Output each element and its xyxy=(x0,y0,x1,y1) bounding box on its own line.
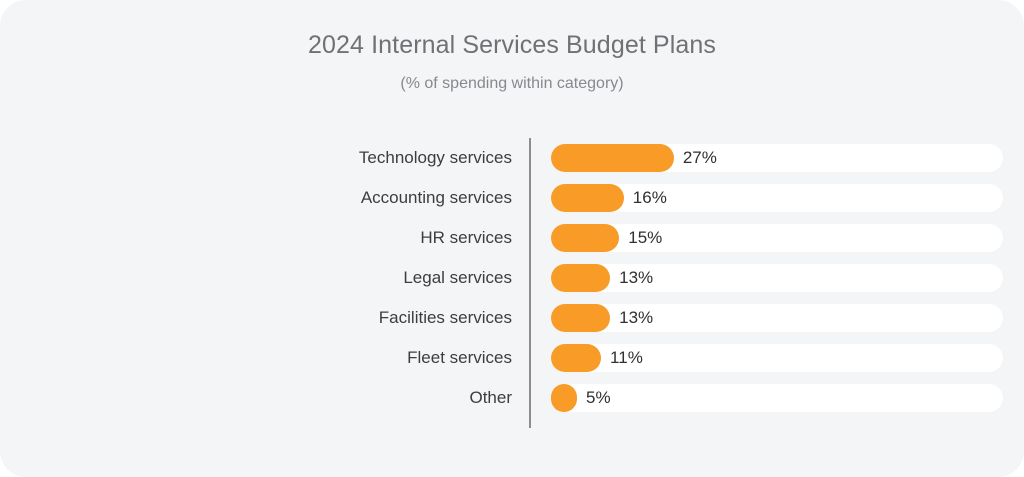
bar-category-label: HR services xyxy=(0,222,512,254)
chart-title: 2024 Internal Services Budget Plans xyxy=(0,28,1024,62)
bar-track xyxy=(551,384,1003,412)
chart-subtitle: (% of spending within category) xyxy=(0,72,1024,96)
bar-row: HR services15% xyxy=(0,222,1024,254)
bar-value-label: 16% xyxy=(633,184,667,212)
bar-category-label: Other xyxy=(0,382,512,414)
bar-category-label: Legal services xyxy=(0,262,512,294)
bar-rows: Technology services27%Accounting service… xyxy=(0,142,1024,422)
bar-category-label: Accounting services xyxy=(0,182,512,214)
bar-value-label: 27% xyxy=(683,144,717,172)
bar-row: Legal services13% xyxy=(0,262,1024,294)
bar-category-label: Technology services xyxy=(0,142,512,174)
bar-fill xyxy=(551,344,601,372)
bar-fill xyxy=(551,224,619,252)
bar-value-label: 13% xyxy=(619,264,653,292)
bar-row: Other5% xyxy=(0,382,1024,414)
chart-card: 2024 Internal Services Budget Plans (% o… xyxy=(0,0,1024,477)
bar-fill xyxy=(551,184,624,212)
bar-category-label: Facilities services xyxy=(0,302,512,334)
bar-row: Fleet services11% xyxy=(0,342,1024,374)
bar-row: Accounting services16% xyxy=(0,182,1024,214)
plot-area: Technology services27%Accounting service… xyxy=(0,138,1024,430)
bar-value-label: 15% xyxy=(628,224,662,252)
bar-row: Facilities services13% xyxy=(0,302,1024,334)
bar-fill xyxy=(551,384,577,412)
bar-value-label: 11% xyxy=(610,344,643,372)
bar-fill xyxy=(551,304,610,332)
bar-fill xyxy=(551,144,674,172)
bar-row: Technology services27% xyxy=(0,142,1024,174)
bar-category-label: Fleet services xyxy=(0,342,512,374)
bar-value-label: 13% xyxy=(619,304,653,332)
chart-header: 2024 Internal Services Budget Plans (% o… xyxy=(0,0,1024,96)
bar-value-label: 5% xyxy=(586,384,611,412)
bar-fill xyxy=(551,264,610,292)
